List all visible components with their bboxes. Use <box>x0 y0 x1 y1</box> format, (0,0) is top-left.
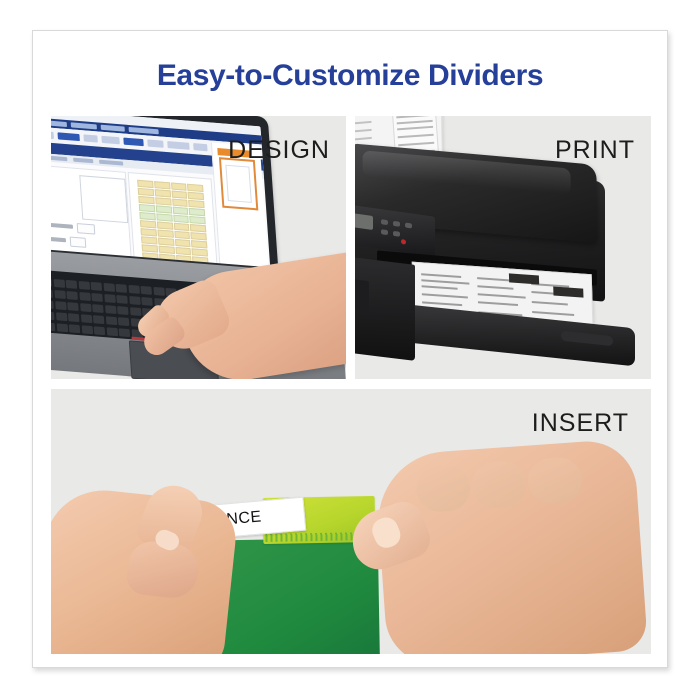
printer-display <box>355 212 373 230</box>
page-title: Easy-to-Customize Dividers <box>33 59 667 93</box>
form-preview-box <box>79 175 128 223</box>
panel-label-print: PRINT <box>555 136 635 165</box>
hand-right-holding-divider <box>374 438 648 654</box>
power-indicator <box>401 239 406 245</box>
printer-button[interactable] <box>381 219 388 225</box>
hand-left-holding-strip <box>51 485 239 654</box>
panel-print: PRINT <box>355 116 651 379</box>
printer-button[interactable] <box>405 223 412 229</box>
knuckle <box>415 464 472 514</box>
printer-button[interactable] <box>381 229 388 235</box>
printer-button[interactable] <box>393 231 400 237</box>
panel-label-insert: INSERT <box>532 409 629 438</box>
panel-insert: FINANCE INSERT <box>51 389 651 654</box>
panel-design: DESIGN <box>51 116 346 379</box>
label-grid <box>137 180 208 265</box>
product-info-card: Easy-to-Customize Dividers <box>32 30 668 668</box>
printer-button[interactable] <box>393 221 400 227</box>
divider-card-preview <box>219 157 258 210</box>
knuckle <box>471 460 528 510</box>
printer-side-panel <box>355 255 415 361</box>
panel-label-design: DESIGN <box>228 136 330 165</box>
knuckle <box>527 456 584 506</box>
